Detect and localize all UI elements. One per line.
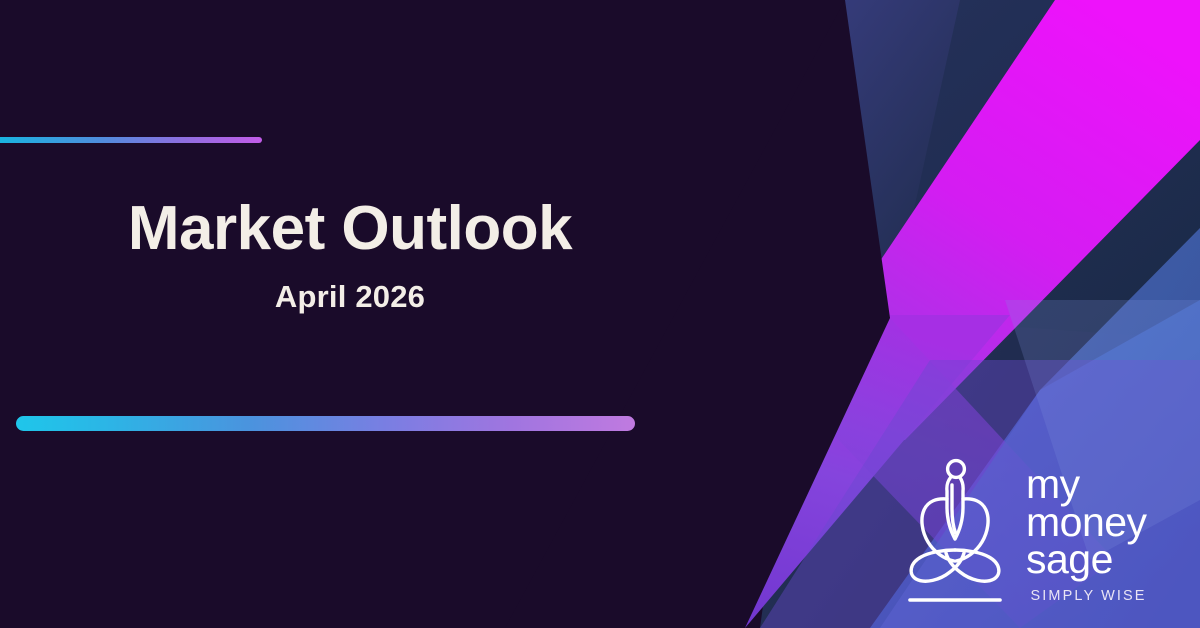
page-subtitle: April 2026 — [0, 279, 700, 315]
accent-rule-bottom — [16, 416, 635, 431]
accent-rule-top — [0, 137, 262, 143]
brand-wordmark: my money sage SIMPLY WISE — [1026, 452, 1147, 604]
wordmark-line-sage: sage — [1026, 541, 1147, 579]
cover-slide: Market Outlook April 2026 — [0, 0, 1200, 628]
page-title: Market Outlook — [0, 196, 700, 261]
headline-block: Market Outlook April 2026 — [0, 196, 700, 315]
meditating-sage-icon — [900, 452, 1018, 612]
brand-tagline: SIMPLY WISE — [1026, 588, 1147, 604]
brand-logo: my money sage SIMPLY WISE — [900, 452, 1190, 612]
